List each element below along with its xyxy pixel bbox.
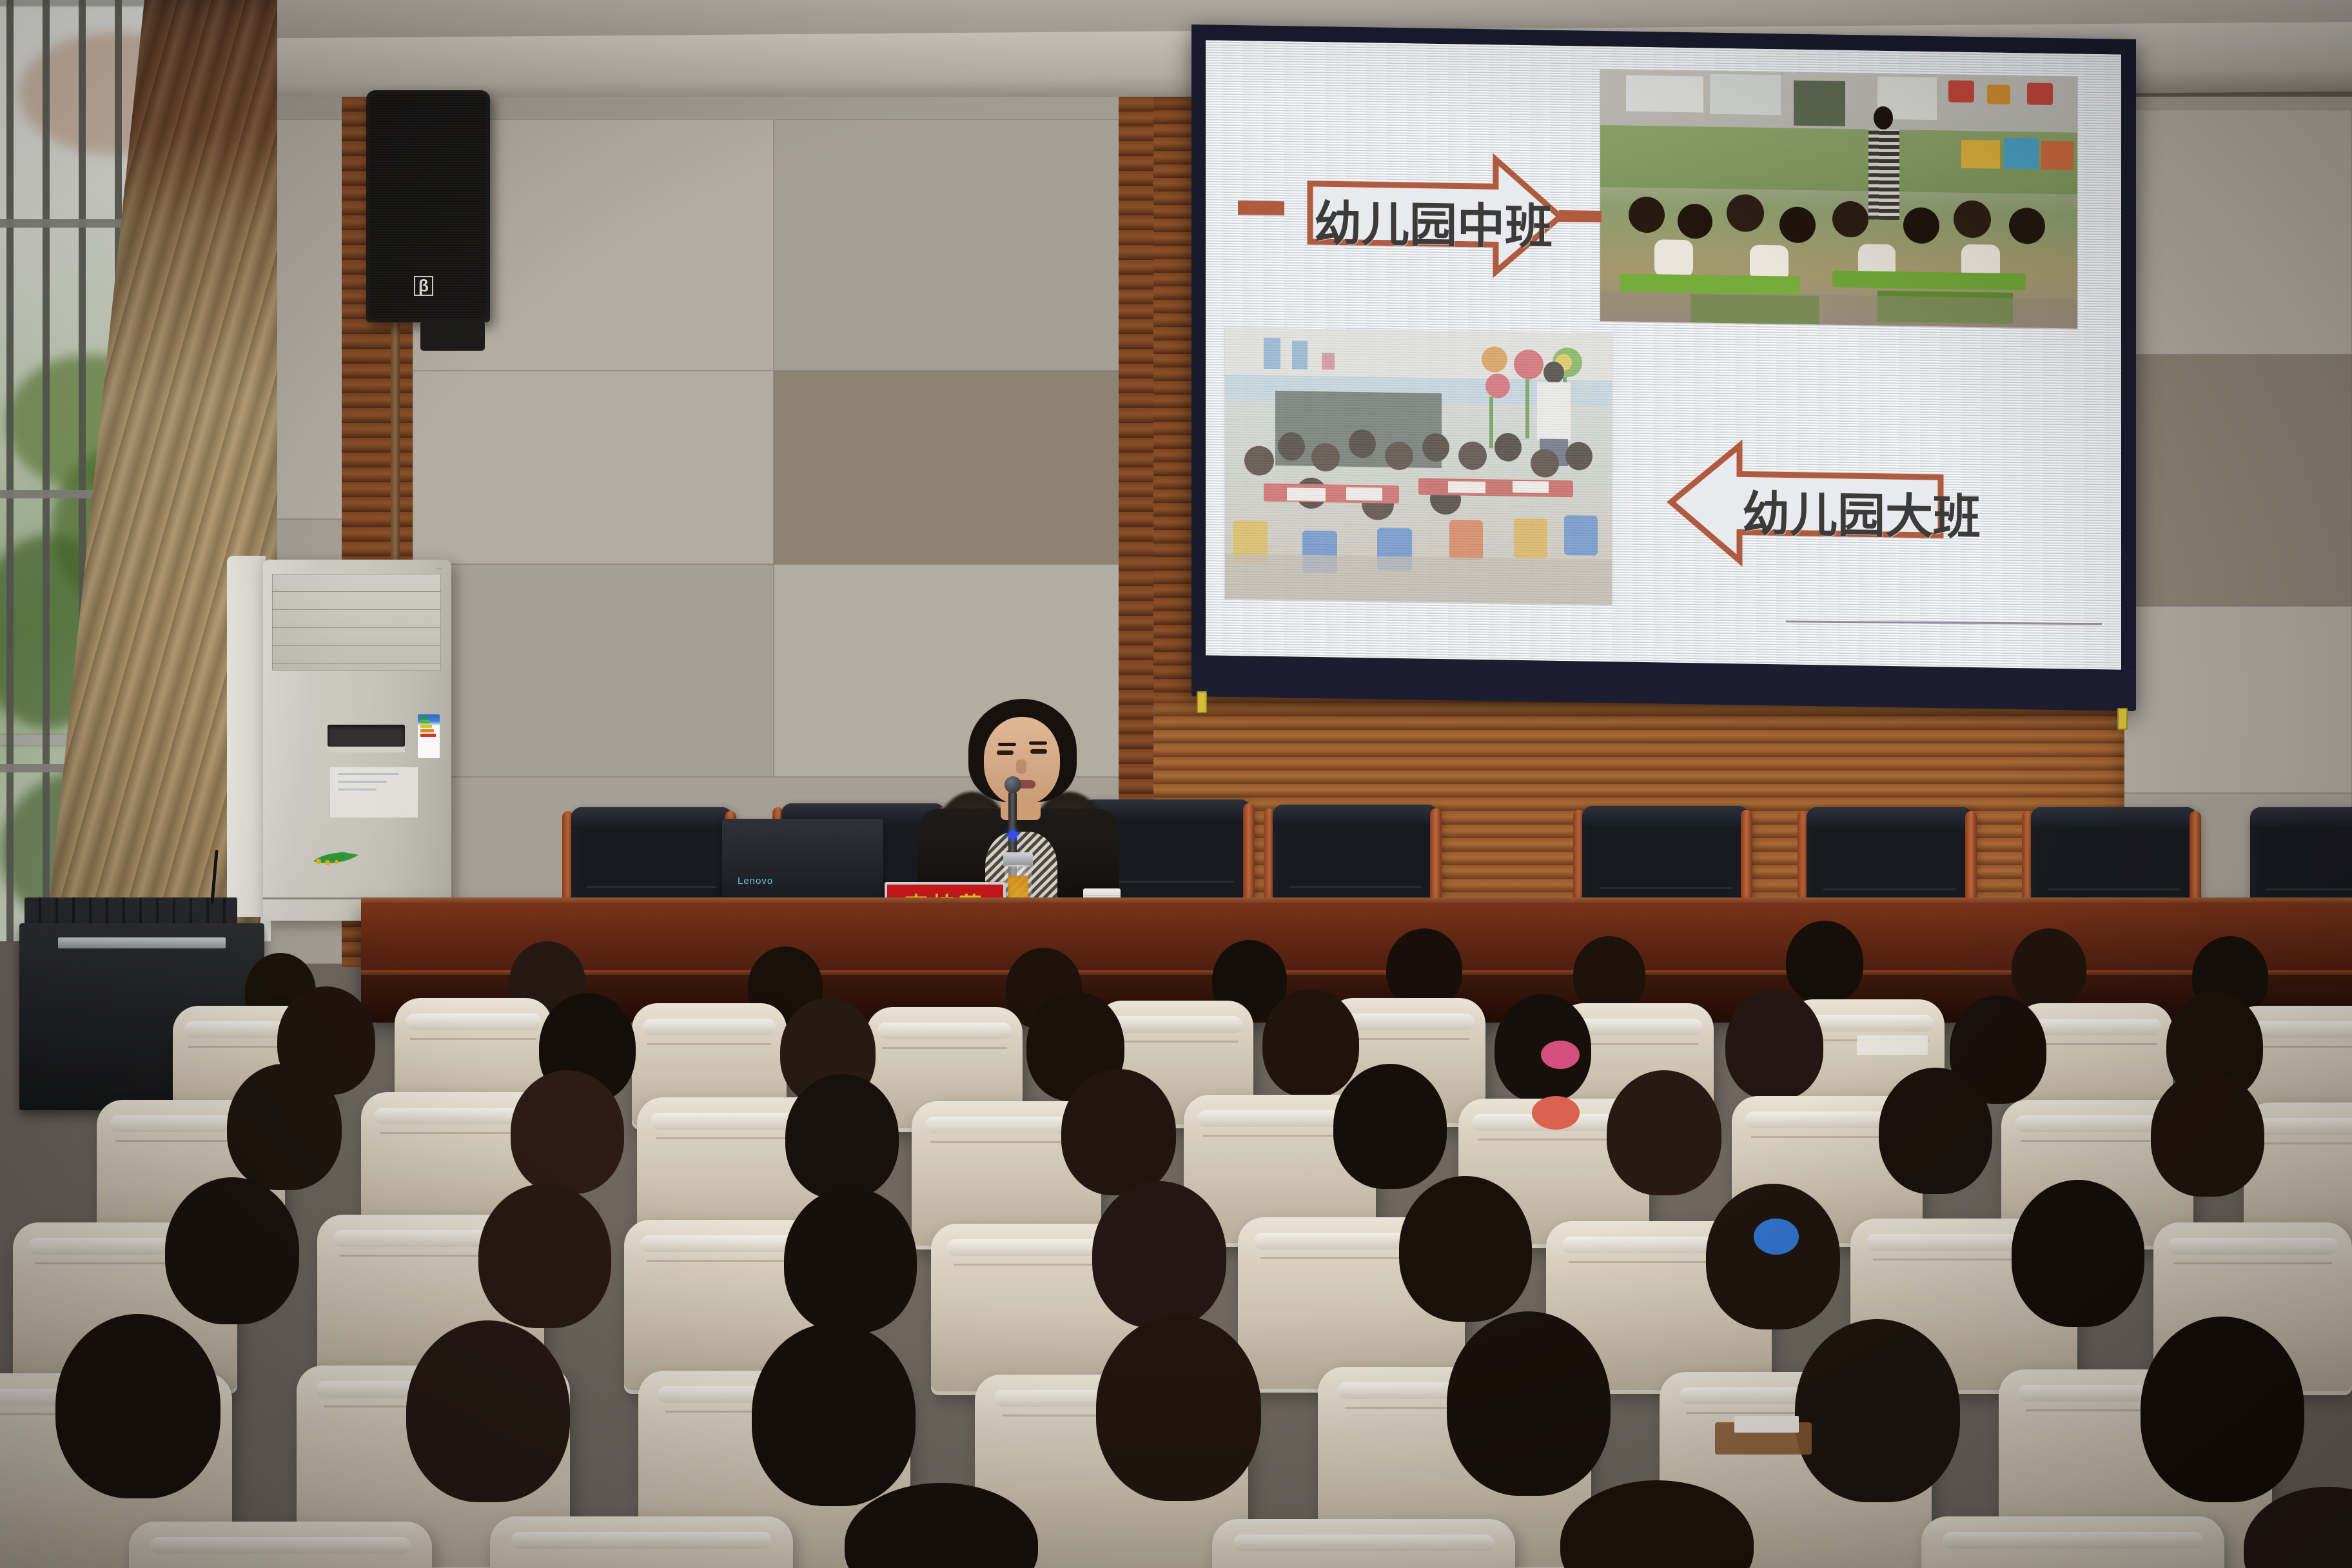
screen-clip-left [1197,691,1207,713]
audience-head [1795,1319,1960,1502]
audience-head [2151,1072,2264,1197]
wall-tile [413,564,774,777]
speaker-brand-icon: β [414,276,433,296]
audience-head [1092,1181,1226,1328]
wall-tile [2121,110,2352,355]
hair-tie [1532,1096,1580,1130]
window-bar [43,0,50,941]
audience-head [227,1064,342,1190]
audience-seat[interactable] [1212,1519,1515,1568]
window-bar [6,0,14,941]
projection-surface: 幼儿园中班 幼儿园大班 [1206,40,2121,673]
audience-head [1725,990,1823,1100]
laptop[interactable]: Lenovo [722,819,883,904]
audience-head [1262,989,1359,1097]
screen-clip-right [2117,708,2128,730]
audience-head [1573,936,1645,1014]
audience-head [2012,928,2086,1008]
wall-speaker: β [366,90,490,322]
kindergarten-middle-class-photo [1600,70,2077,329]
projection-screen: 幼儿园中班 幼儿园大班 [1191,24,2136,710]
audience-head [165,1177,299,1324]
paper-sheet [1857,1035,1928,1055]
ac-brand-label: ─ [436,563,444,573]
auditorium-scene: β ─ [0,0,2352,1568]
audience-head [1447,1311,1611,1496]
ac-paper-notice [330,767,418,818]
ac-display[interactable] [328,725,405,747]
audience-head [1061,1069,1176,1195]
floor-air-conditioner: ─ [263,560,451,921]
arrow-tail-left [1238,201,1284,215]
audience-seat[interactable] [129,1522,432,1568]
wall-tile [774,119,1135,371]
wall-tile [413,371,774,564]
audience-head [1607,1070,1721,1195]
audience-head [784,1188,917,1333]
audience-head [2012,1180,2144,1327]
hair-tie [1541,1041,1580,1069]
thermos-cap [1003,852,1033,867]
air-conditioner-side [227,556,266,917]
leaf-icon [309,848,371,868]
arrow-tip-connector [1559,210,1602,222]
audience-head [478,1184,611,1328]
audience-head [1879,1068,1992,1194]
audience-head [1333,1064,1447,1189]
audience-head [1096,1315,1261,1501]
ac-vent [272,574,441,671]
ac-display-lip [328,747,405,752]
paper-sheet [1734,1416,1799,1433]
wall-tile [2121,355,2352,606]
callout-label-senior-class: 幼儿园大班 [1742,475,1981,548]
wall-tile [774,371,1135,564]
ac-green-decal [309,848,371,868]
audience-head [511,1070,624,1194]
presenter-face [984,717,1060,805]
speaker-bracket [420,321,485,351]
kindergarten-senior-class-photo [1225,328,1612,605]
audience-head [406,1320,570,1502]
audience-head [1399,1176,1532,1322]
microphone-head [1004,776,1021,793]
audience-head [752,1323,916,1506]
slide-divider-line [1786,620,2102,625]
ac-energy-label [418,714,440,758]
laptop-brand-label: Lenovo [738,876,773,887]
audience-head [785,1074,899,1199]
audience-seat[interactable] [1921,1516,2224,1568]
audience-head [1786,921,1863,1003]
av-rack-rail [58,937,226,948]
microphone-led-icon [1008,830,1017,839]
audience-head [55,1314,220,1498]
audience-head [2141,1317,2304,1502]
callout-label-middle-class: 幼儿园中班 [1314,185,1553,258]
wall-tile [2121,606,2352,793]
audience-head [1706,1184,1840,1329]
audience-seat[interactable] [490,1516,793,1568]
hair-tie [1754,1219,1799,1255]
